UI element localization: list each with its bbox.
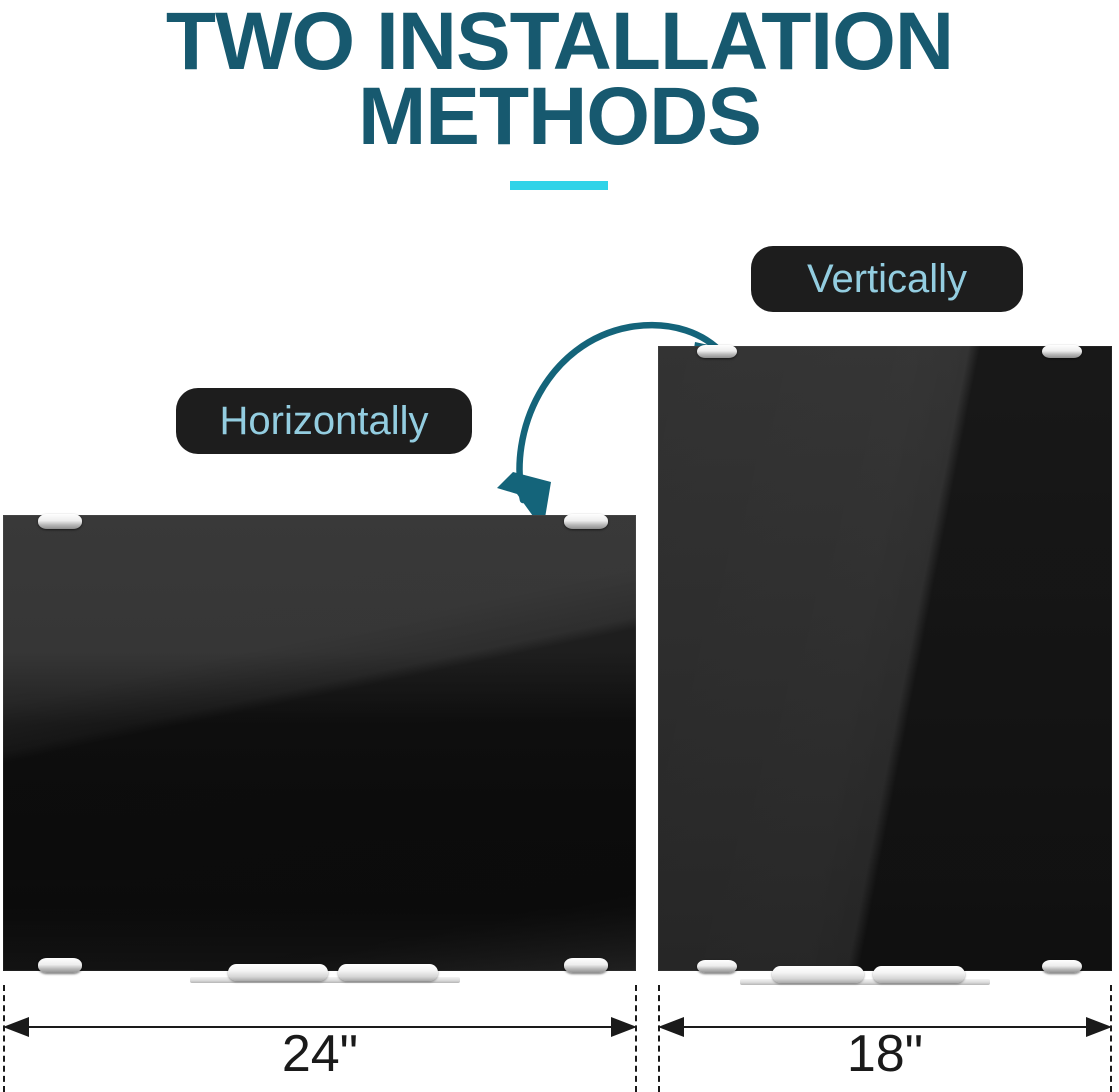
- page-title: TWO INSTALLATION METHODS: [0, 4, 1119, 155]
- marker-pen-2-horizontal: [338, 964, 438, 981]
- mounting-peg-bottom-right: [564, 958, 608, 973]
- board-surface-vertical: [658, 346, 1112, 971]
- callout-badge-horizontally: Horizontally: [176, 388, 472, 454]
- dimension-label-18: 18": [658, 1028, 1112, 1080]
- mounting-peg-bottom-left: [38, 958, 82, 973]
- mounting-peg-v-bottom-right: [1042, 960, 1082, 973]
- mounting-peg-v-bottom-left: [697, 960, 737, 973]
- mounting-peg-v-top-left: [697, 345, 737, 358]
- board-surface-horizontal: [3, 515, 636, 971]
- marker-pen-2-vertical: [873, 966, 965, 983]
- product-feature-image: TWO INSTALLATION METHODS Vertically Hori…: [0, 0, 1119, 1092]
- title-line-1: TWO INSTALLATION: [0, 4, 1119, 79]
- mounting-peg-top-left: [38, 514, 82, 529]
- accent-bar: [510, 181, 608, 190]
- title-line-2: METHODS: [0, 79, 1119, 154]
- mounting-peg-v-top-right: [1042, 345, 1082, 358]
- callout-badge-vertically: Vertically: [751, 246, 1023, 312]
- dimension-label-24: 24": [3, 1028, 637, 1080]
- marker-pen-1-horizontal: [228, 964, 328, 981]
- mounting-peg-top-right: [564, 514, 608, 529]
- glass-board-horizontal: [3, 515, 636, 971]
- glass-board-vertical: [658, 346, 1112, 971]
- marker-pen-1-vertical: [772, 966, 864, 983]
